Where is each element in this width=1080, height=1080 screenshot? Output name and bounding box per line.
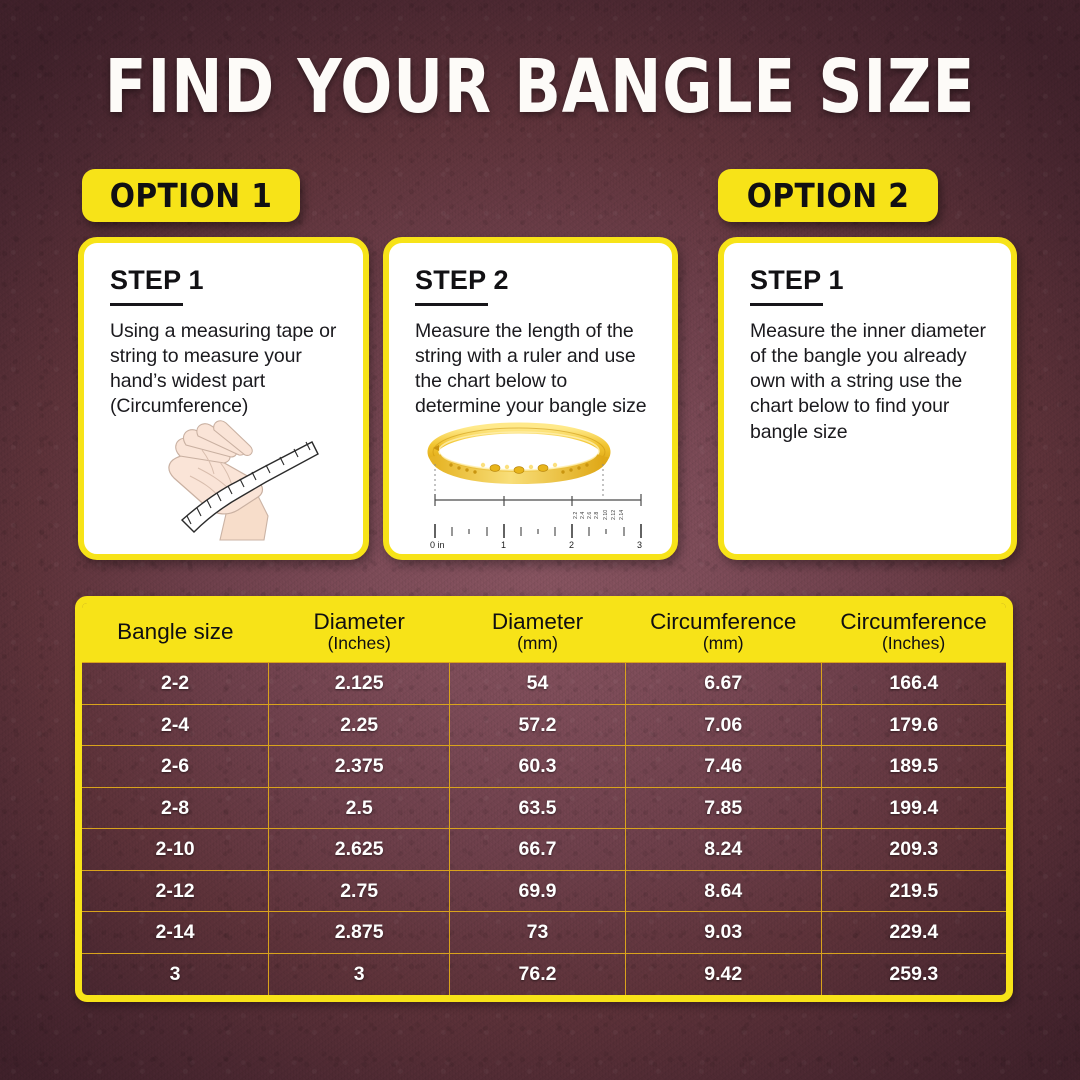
- svg-text:2.6: 2.6: [587, 512, 593, 519]
- table-row: 3376.29.42259.3: [82, 953, 1006, 995]
- svg-text:2.14: 2.14: [619, 510, 625, 520]
- cell-value: 76.2: [450, 953, 626, 995]
- cell-value: 189.5: [821, 746, 1006, 788]
- cell-value: 2.5: [269, 787, 450, 829]
- cell-value: 60.3: [450, 746, 626, 788]
- column-header-0: Bangle size: [82, 603, 269, 663]
- ruler-label-2: 2: [569, 540, 574, 548]
- table-body: 2-22.125546.67166.42-42.2557.27.06179.62…: [82, 663, 1006, 995]
- step-body-text: Using a measuring tape or string to meas…: [110, 319, 339, 420]
- step-heading: STEP 1: [110, 265, 363, 296]
- step-card-option2-step1: STEP 1 Measure the inner diameter of the…: [718, 237, 1017, 560]
- step-heading: STEP 1: [750, 265, 1011, 296]
- cell-bangle-size: 2-2: [82, 663, 269, 705]
- column-header-name: Circumference: [650, 609, 796, 634]
- cell-value: 6.67: [625, 663, 821, 705]
- column-header-unit: (mm): [627, 634, 819, 654]
- cell-bangle-size: 2-6: [82, 746, 269, 788]
- column-header-name: Diameter: [492, 609, 583, 634]
- cell-value: 63.5: [450, 787, 626, 829]
- cell-value: 166.4: [821, 663, 1006, 705]
- cell-value: 69.9: [450, 870, 626, 912]
- step-body-text: Measure the length of the string with a …: [415, 319, 648, 420]
- step-heading-rule: [110, 303, 183, 306]
- column-header-3: Circumference(mm): [625, 603, 821, 663]
- cell-value: 199.4: [821, 787, 1006, 829]
- option-1-badge: OPTION 1: [82, 169, 300, 222]
- table-row: 2-102.62566.78.24209.3: [82, 829, 1006, 871]
- option-1-label: OPTION 1: [110, 176, 273, 215]
- table-header: Bangle sizeDiameter(Inches)Diameter(mm)C…: [82, 603, 1006, 663]
- cell-value: 8.64: [625, 870, 821, 912]
- cell-value: 54: [450, 663, 626, 705]
- cell-value: 179.6: [821, 704, 1006, 746]
- step-heading: STEP 2: [415, 265, 672, 296]
- cell-value: 259.3: [821, 953, 1006, 995]
- table-row: 2-62.37560.37.46189.5: [82, 746, 1006, 788]
- column-header-name: Circumference: [840, 609, 986, 634]
- table-row: 2-82.563.57.85199.4: [82, 787, 1006, 829]
- table-header-row: Bangle sizeDiameter(Inches)Diameter(mm)C…: [82, 603, 1006, 663]
- cell-bangle-size: 2-10: [82, 829, 269, 871]
- size-table: Bangle sizeDiameter(Inches)Diameter(mm)C…: [82, 603, 1006, 995]
- cell-value: 8.24: [625, 829, 821, 871]
- cell-value: 7.06: [625, 704, 821, 746]
- table-row: 2-42.2557.27.06179.6: [82, 704, 1006, 746]
- option-2-label: OPTION 2: [747, 176, 910, 215]
- ruler-label-1: 1: [501, 540, 506, 548]
- svg-text:2.2: 2.2: [573, 512, 579, 519]
- cell-value: 2.75: [269, 870, 450, 912]
- svg-text:2.12: 2.12: [611, 510, 617, 520]
- cell-value: 7.46: [625, 746, 821, 788]
- column-header-name: Bangle size: [117, 619, 233, 644]
- cell-value: 2.375: [269, 746, 450, 788]
- cell-value: 3: [269, 953, 450, 995]
- cell-bangle-size: 3: [82, 953, 269, 995]
- svg-text:2.8: 2.8: [594, 512, 600, 519]
- cell-value: 2.875: [269, 912, 450, 954]
- cell-value: 66.7: [450, 829, 626, 871]
- gold-bangle-over-ruler-icon: 2.2 2.4 2.6 2.8 2.10 2.12 2.14: [417, 420, 647, 548]
- cell-bangle-size: 2-14: [82, 912, 269, 954]
- step-card-option1-step2: STEP 2 Measure the length of the string …: [383, 237, 678, 560]
- step-body-text: Measure the inner diameter of the bangle…: [750, 319, 987, 445]
- cell-bangle-size: 2-12: [82, 870, 269, 912]
- cell-bangle-size: 2-8: [82, 787, 269, 829]
- column-header-2: Diameter(mm): [450, 603, 626, 663]
- cell-value: 7.85: [625, 787, 821, 829]
- cell-value: 229.4: [821, 912, 1006, 954]
- cell-value: 2.125: [269, 663, 450, 705]
- svg-text:2.4: 2.4: [580, 512, 586, 519]
- column-header-4: Circumference(Inches): [821, 603, 1006, 663]
- cell-value: 9.03: [625, 912, 821, 954]
- step-heading-rule: [415, 303, 488, 306]
- step-card-option1-step1: STEP 1 Using a measuring tape or string …: [78, 237, 369, 560]
- cell-value: 219.5: [821, 870, 1006, 912]
- column-header-name: Diameter: [314, 609, 405, 634]
- bangle-size-guide-page: FIND YOUR BANGLE SIZE OPTION 1 OPTION 2 …: [0, 0, 1080, 1080]
- table-row: 2-22.125546.67166.4: [82, 663, 1006, 705]
- page-title: FIND YOUR BANGLE SIZE: [43, 50, 1037, 124]
- column-header-1: Diameter(Inches): [269, 603, 450, 663]
- cell-value: 9.42: [625, 953, 821, 995]
- bangle-size-chart: Bangle sizeDiameter(Inches)Diameter(mm)C…: [75, 596, 1013, 1002]
- column-header-unit: (Inches): [271, 634, 448, 654]
- step-heading-rule: [750, 303, 823, 306]
- table-row: 2-142.875739.03229.4: [82, 912, 1006, 954]
- cell-value: 2.25: [269, 704, 450, 746]
- table-row: 2-122.7569.98.64219.5: [82, 870, 1006, 912]
- cell-value: 73: [450, 912, 626, 954]
- hand-with-measuring-tape-icon: [146, 412, 322, 548]
- cell-value: 2.625: [269, 829, 450, 871]
- column-header-unit: (Inches): [823, 634, 1004, 654]
- cell-bangle-size: 2-4: [82, 704, 269, 746]
- option-2-badge: OPTION 2: [718, 169, 938, 222]
- cell-value: 57.2: [450, 704, 626, 746]
- ruler-label-3: 3: [637, 540, 642, 548]
- column-header-unit: (mm): [452, 634, 624, 654]
- svg-text:2.10: 2.10: [603, 510, 609, 520]
- ruler-label-0: 0 in: [430, 540, 445, 548]
- cell-value: 209.3: [821, 829, 1006, 871]
